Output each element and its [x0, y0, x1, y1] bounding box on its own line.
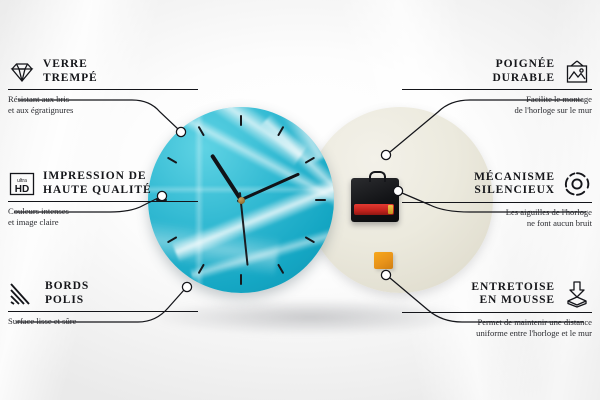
clock-hanger-hook-icon: [369, 171, 386, 182]
foam-spacer: [374, 252, 393, 269]
feature-subtitle: Résistant aux bris et aux égratignures: [8, 94, 198, 115]
feature-header: BORDS POLIS: [8, 280, 198, 307]
feature-title: BORDS POLIS: [45, 280, 89, 307]
divider: [8, 311, 198, 312]
divider: [402, 202, 592, 203]
ultra-hd-badge-icon: ultra HD: [8, 171, 36, 197]
feature-header: POIGNÉE DURABLE: [402, 58, 592, 85]
feature-header: ENTRETOISE EN MOUSSE: [402, 280, 592, 308]
divider: [402, 312, 592, 313]
feature-subtitle: Surface lisse et sûre: [8, 316, 198, 327]
feature-subtitle: Facilite le montage de l'horloge sur le …: [402, 94, 592, 115]
clock-mechanism-box: [351, 178, 399, 222]
battery-terminal: [388, 205, 393, 214]
feather-texture: [242, 107, 334, 166]
feature-verre-trempe[interactable]: VERRE TREMPÉ Résistant aux bris et aux é…: [8, 58, 198, 115]
feature-bords-polis[interactable]: BORDS POLIS Surface lisse et sûre: [8, 280, 198, 327]
feature-poignee-durable[interactable]: POIGNÉE DURABLE Facilite le montage de l…: [402, 58, 592, 115]
divider: [8, 89, 198, 90]
feature-title: MÉCANISME SILENCIEUX: [474, 171, 555, 198]
feature-mecanisme-silencieux[interactable]: MÉCANISME SILENCIEUX Les aiguilles de l'…: [402, 170, 592, 228]
feature-title: ENTRETOISE EN MOUSSE: [471, 281, 555, 308]
divider: [402, 89, 592, 90]
feature-header: ultra HD IMPRESSION DE HAUTE QUALITÉ: [8, 170, 198, 197]
feature-header: MÉCANISME SILENCIEUX: [402, 170, 592, 198]
svg-text:HD: HD: [15, 184, 29, 195]
polished-edges-icon: [8, 282, 38, 306]
feature-header: VERRE TREMPÉ: [8, 58, 198, 85]
feature-entretoise-en-mousse[interactable]: ENTRETOISE EN MOUSSE Permet de maintenir…: [402, 280, 592, 338]
feature-subtitle: Permet de maintenir une distance uniform…: [402, 317, 592, 338]
foam-spacer-arrow-icon: [562, 280, 592, 308]
divider: [8, 201, 198, 202]
feather-texture: [148, 107, 308, 167]
feature-subtitle: Les aiguilles de l'horloge ne font aucun…: [402, 207, 592, 228]
diamond-icon: [8, 60, 36, 84]
clock-center-pin: [238, 197, 245, 204]
infographic-canvas: VERRE TREMPÉ Résistant aux bris et aux é…: [0, 0, 600, 400]
feature-title: VERRE TREMPÉ: [43, 58, 98, 85]
gear-icon: [562, 170, 592, 198]
picture-hanger-icon: [562, 59, 592, 85]
feature-title: POIGNÉE DURABLE: [492, 58, 555, 85]
feature-title: IMPRESSION DE HAUTE QUALITÉ: [43, 170, 152, 197]
feature-subtitle: Couleurs intenses et image claire: [8, 206, 198, 227]
feature-impression-haute-qualite[interactable]: ultra HD IMPRESSION DE HAUTE QUALITÉ Cou…: [8, 170, 198, 227]
